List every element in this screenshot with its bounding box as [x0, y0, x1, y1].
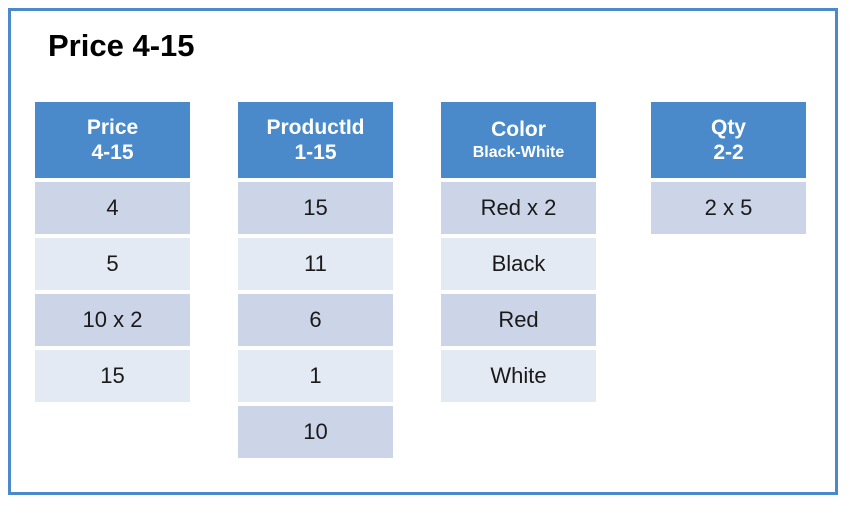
cell-color-1[interactable]: Black [441, 238, 596, 290]
column-header-subtitle-price: 4-15 [91, 140, 133, 165]
column-header-title-productid: ProductId [267, 115, 365, 140]
cell-color-0[interactable]: Red x 2 [441, 182, 596, 234]
cell-price-0[interactable]: 4 [35, 182, 190, 234]
cell-productid-3[interactable]: 1 [238, 350, 393, 402]
column-header-subtitle-qty: 2-2 [713, 140, 743, 165]
cell-price-3[interactable]: 15 [35, 350, 190, 402]
cell-productid-2[interactable]: 6 [238, 294, 393, 346]
column-header-title-price: Price [87, 115, 138, 140]
cell-price-2[interactable]: 10 x 2 [35, 294, 190, 346]
column-header-subtitle-color: Black-White [473, 142, 565, 163]
column-header-title-qty: Qty [711, 115, 746, 140]
cell-color-2[interactable]: Red [441, 294, 596, 346]
cell-productid-0[interactable]: 15 [238, 182, 393, 234]
column-header-price[interactable]: Price4-15 [35, 102, 190, 178]
slide-canvas: Price 4-15 Price4-154510 x 215ProductId1… [0, 0, 850, 508]
column-productid: ProductId1-1515116110 [238, 102, 393, 462]
column-header-title-color: Color [491, 117, 546, 142]
cell-productid-4[interactable]: 10 [238, 406, 393, 458]
column-header-subtitle-productid: 1-15 [294, 140, 336, 165]
column-header-qty[interactable]: Qty2-2 [651, 102, 806, 178]
cell-price-1[interactable]: 5 [35, 238, 190, 290]
column-header-productid[interactable]: ProductId1-15 [238, 102, 393, 178]
column-qty: Qty2-22 x 5 [651, 102, 806, 238]
column-color: ColorBlack-WhiteRed x 2BlackRedWhite [441, 102, 596, 406]
cell-qty-0[interactable]: 2 x 5 [651, 182, 806, 234]
cell-color-3[interactable]: White [441, 350, 596, 402]
column-header-color[interactable]: ColorBlack-White [441, 102, 596, 178]
column-price: Price4-154510 x 215 [35, 102, 190, 406]
cell-productid-1[interactable]: 11 [238, 238, 393, 290]
page-title: Price 4-15 [48, 27, 195, 65]
